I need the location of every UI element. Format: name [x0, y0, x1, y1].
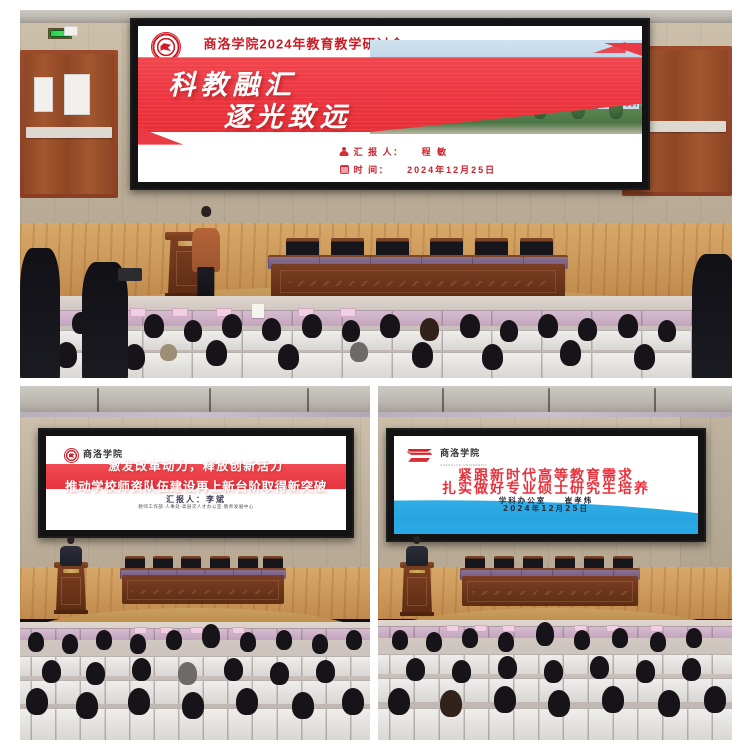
auditorium-room-bl: 商洛学院 SHANGLUO UNIVERSITY 激发改革动力，释放创新活力 推… — [20, 386, 370, 740]
head-table — [120, 556, 286, 604]
door-notice-right — [64, 74, 89, 115]
graduate-program-session-photo: 商洛学院 SHANGLUO UNIVERSITY 紧跟新时代高等教育需求 扎实做… — [378, 386, 732, 740]
audience-head — [222, 314, 242, 338]
audience-head — [682, 658, 701, 681]
name-placard — [190, 627, 203, 634]
podium-base — [54, 610, 89, 614]
audience-head — [406, 658, 425, 681]
audience-head — [342, 320, 360, 342]
audience-head — [312, 634, 328, 654]
auditorium-room-br: 商洛学院 SHANGLUO UNIVERSITY 紧跟新时代高等教育需求 扎实做… — [378, 386, 732, 740]
university-seal-logo — [64, 448, 79, 463]
audience-head — [144, 314, 164, 338]
audience-head — [590, 656, 609, 679]
name-placard — [650, 625, 663, 632]
audience-head — [388, 688, 410, 715]
document-sheet — [252, 304, 264, 318]
ceiling-beam — [209, 388, 211, 412]
wall-notice — [64, 26, 78, 36]
audience-head — [460, 314, 480, 338]
photo-collage: 商洛学院2024年教育教学研讨会 — [0, 0, 750, 750]
blue-footer-bar — [394, 521, 698, 534]
audience-head — [548, 690, 570, 717]
audience-head — [262, 318, 281, 341]
slide-title-line1: 激发改革动力，释放创新活力 — [108, 457, 284, 474]
audience-head — [392, 630, 408, 650]
audience-head — [42, 660, 61, 683]
name-placard — [134, 627, 147, 634]
audience-head — [704, 686, 726, 713]
slide-title-line2: 逐光致远 — [224, 95, 352, 134]
speaker-torso — [406, 546, 428, 566]
name-placard — [446, 625, 459, 632]
head-table-front — [271, 264, 565, 298]
ceiling — [378, 386, 732, 414]
speaker-torso — [60, 546, 82, 566]
speaker-head — [67, 536, 74, 544]
projection-screen: 商洛学院2024年教育教学研讨会 — [130, 18, 650, 190]
ceiling — [20, 386, 370, 414]
speaker-presenter — [406, 536, 428, 578]
ceiling-beam — [548, 388, 550, 412]
faculty-slide: 商洛学院 SHANGLUO UNIVERSITY 激发改革动力，释放创新活力 推… — [46, 436, 346, 530]
audience-head — [482, 344, 503, 370]
table-panel-trim — [289, 281, 548, 286]
head-table — [460, 556, 640, 606]
audience-head — [494, 686, 516, 713]
audience-head — [636, 660, 655, 683]
seated-audience — [20, 622, 370, 740]
head-table-front — [462, 576, 638, 606]
main-presentation-slide: 商洛学院2024年教育教学研讨会 — [138, 26, 642, 182]
name-placard — [502, 625, 515, 632]
door-push-bar — [26, 127, 112, 138]
calendar-icon — [340, 165, 349, 174]
audience-head — [612, 628, 628, 648]
faculty-development-session-photo: 商洛学院 SHANGLUO UNIVERSITY 激发改革动力，释放创新活力 推… — [20, 386, 370, 740]
audience-head — [350, 342, 368, 362]
audience-head — [346, 630, 362, 650]
audience-head — [292, 692, 314, 719]
projection-screen: 商洛学院 SHANGLUO UNIVERSITY 激发改革动力，释放创新活力 推… — [38, 428, 354, 538]
ceiling-beam — [307, 388, 309, 412]
audience-head — [224, 658, 243, 681]
slide-department: 教师工作部·人事处·高层次人才办公室·教师发展中心 — [46, 504, 346, 510]
audience-head — [276, 630, 292, 650]
presenter-row: 汇 报 人： 程 敏 — [340, 145, 449, 158]
audience-head — [426, 632, 442, 652]
audience-head — [578, 318, 597, 341]
ceiling-beam — [97, 388, 99, 412]
audience-head-hat — [160, 344, 177, 361]
slide-date: 2024年12月25日 — [394, 503, 698, 514]
audience-head — [166, 630, 182, 650]
audience-head — [86, 662, 105, 685]
speaker-legs — [197, 267, 214, 298]
auditorium-room-top: 商洛学院2024年教育教学研讨会 — [20, 10, 732, 378]
date-label: 时 间： — [354, 163, 390, 176]
audience-head — [342, 688, 364, 715]
audience-head — [240, 632, 256, 652]
audience-head — [76, 692, 98, 719]
audience-head — [686, 628, 702, 648]
speaker-torso — [192, 228, 220, 272]
sl-monogram-logo — [406, 448, 432, 462]
audience-head — [498, 632, 514, 652]
audience-head — [206, 340, 227, 366]
ceiling-beam — [442, 388, 444, 412]
standing-attendee — [692, 254, 732, 378]
audience-head — [544, 660, 563, 683]
video-camera — [118, 268, 142, 281]
audience-head — [278, 344, 299, 370]
audience-head — [538, 314, 558, 338]
audience-head — [96, 630, 112, 650]
audience-head — [498, 656, 517, 679]
main-conference-hall-photo: 商洛学院2024年教育教学研讨会 — [20, 10, 732, 378]
seated-audience — [378, 620, 732, 740]
audience-head — [574, 630, 590, 650]
audience-head — [420, 318, 439, 341]
graduate-slide: 商洛学院 SHANGLUO UNIVERSITY 紧跟新时代高等教育需求 扎实做… — [394, 436, 698, 534]
audience-head — [28, 632, 44, 652]
audience-head — [184, 320, 202, 342]
speaker-head — [201, 206, 211, 217]
speaker-presenter — [60, 536, 82, 578]
speaker-head — [413, 536, 420, 544]
audience-head — [128, 688, 150, 715]
head-table-front — [122, 575, 285, 604]
audience-head — [500, 320, 518, 342]
audience-head — [62, 634, 78, 654]
audience-head — [440, 690, 462, 717]
slide-title-line2: 推动学校师资队伍建设再上新台阶取得新突破 — [65, 476, 327, 495]
audience-head — [26, 688, 48, 715]
audience-head — [536, 622, 554, 646]
name-placard — [340, 308, 356, 317]
table-panel-trim — [472, 591, 627, 595]
audience-head — [202, 624, 220, 648]
date-row: 时 间： 2024年12月25日 — [340, 163, 497, 176]
audience-head — [178, 662, 197, 685]
slide-logo-row: 商洛学院 SHANGLUO UNIVERSITY — [406, 443, 487, 467]
screen-surface: 商洛学院 SHANGLUO UNIVERSITY 紧跟新时代高等教育需求 扎实做… — [394, 436, 698, 534]
speaker-presenter — [192, 206, 220, 298]
audience-head — [634, 344, 655, 370]
audience-head — [658, 320, 676, 342]
audience-head — [602, 686, 624, 713]
presenter-label: 汇 报 人： — [354, 145, 404, 158]
presenter-name: 程 敏 — [422, 145, 449, 158]
audience-head — [380, 314, 400, 338]
audience-head — [236, 688, 258, 715]
screen-surface: 商洛学院2024年教育教学研讨会 — [138, 26, 642, 182]
standing-attendee — [20, 248, 60, 378]
org-name: 商洛学院 — [440, 449, 480, 459]
audience-head — [618, 314, 638, 338]
audience-head — [302, 314, 322, 338]
ceiling-beam — [654, 388, 656, 412]
date-value: 2024年12月25日 — [407, 163, 496, 176]
audience-head — [560, 340, 581, 366]
table-panel-trim — [131, 590, 274, 594]
audience-head — [270, 662, 289, 685]
audience-head — [658, 690, 680, 717]
audience-head — [182, 692, 204, 719]
name-placard — [130, 308, 146, 317]
projection-screen: 商洛学院 SHANGLUO UNIVERSITY 紧跟新时代高等教育需求 扎实做… — [386, 428, 706, 542]
person-icon — [340, 147, 349, 156]
audience-head — [316, 660, 335, 683]
head-table — [268, 238, 568, 298]
audience-head — [132, 658, 151, 681]
podium-base — [400, 612, 435, 616]
audience-head — [650, 632, 666, 652]
auditorium-door-left[interactable] — [20, 50, 118, 198]
audience-head — [452, 660, 471, 683]
door-notice-left — [34, 77, 54, 113]
audience-head — [412, 342, 433, 368]
audience-head — [130, 634, 146, 654]
slide-red-band: 激发改革动力，释放创新活力 推动学校师资队伍建设再上新台阶取得新突破 — [46, 464, 346, 488]
name-placard — [172, 308, 188, 317]
audience-head — [462, 628, 478, 648]
screen-surface: 商洛学院 SHANGLUO UNIVERSITY 激发改革动力，释放创新活力 推… — [46, 436, 346, 530]
